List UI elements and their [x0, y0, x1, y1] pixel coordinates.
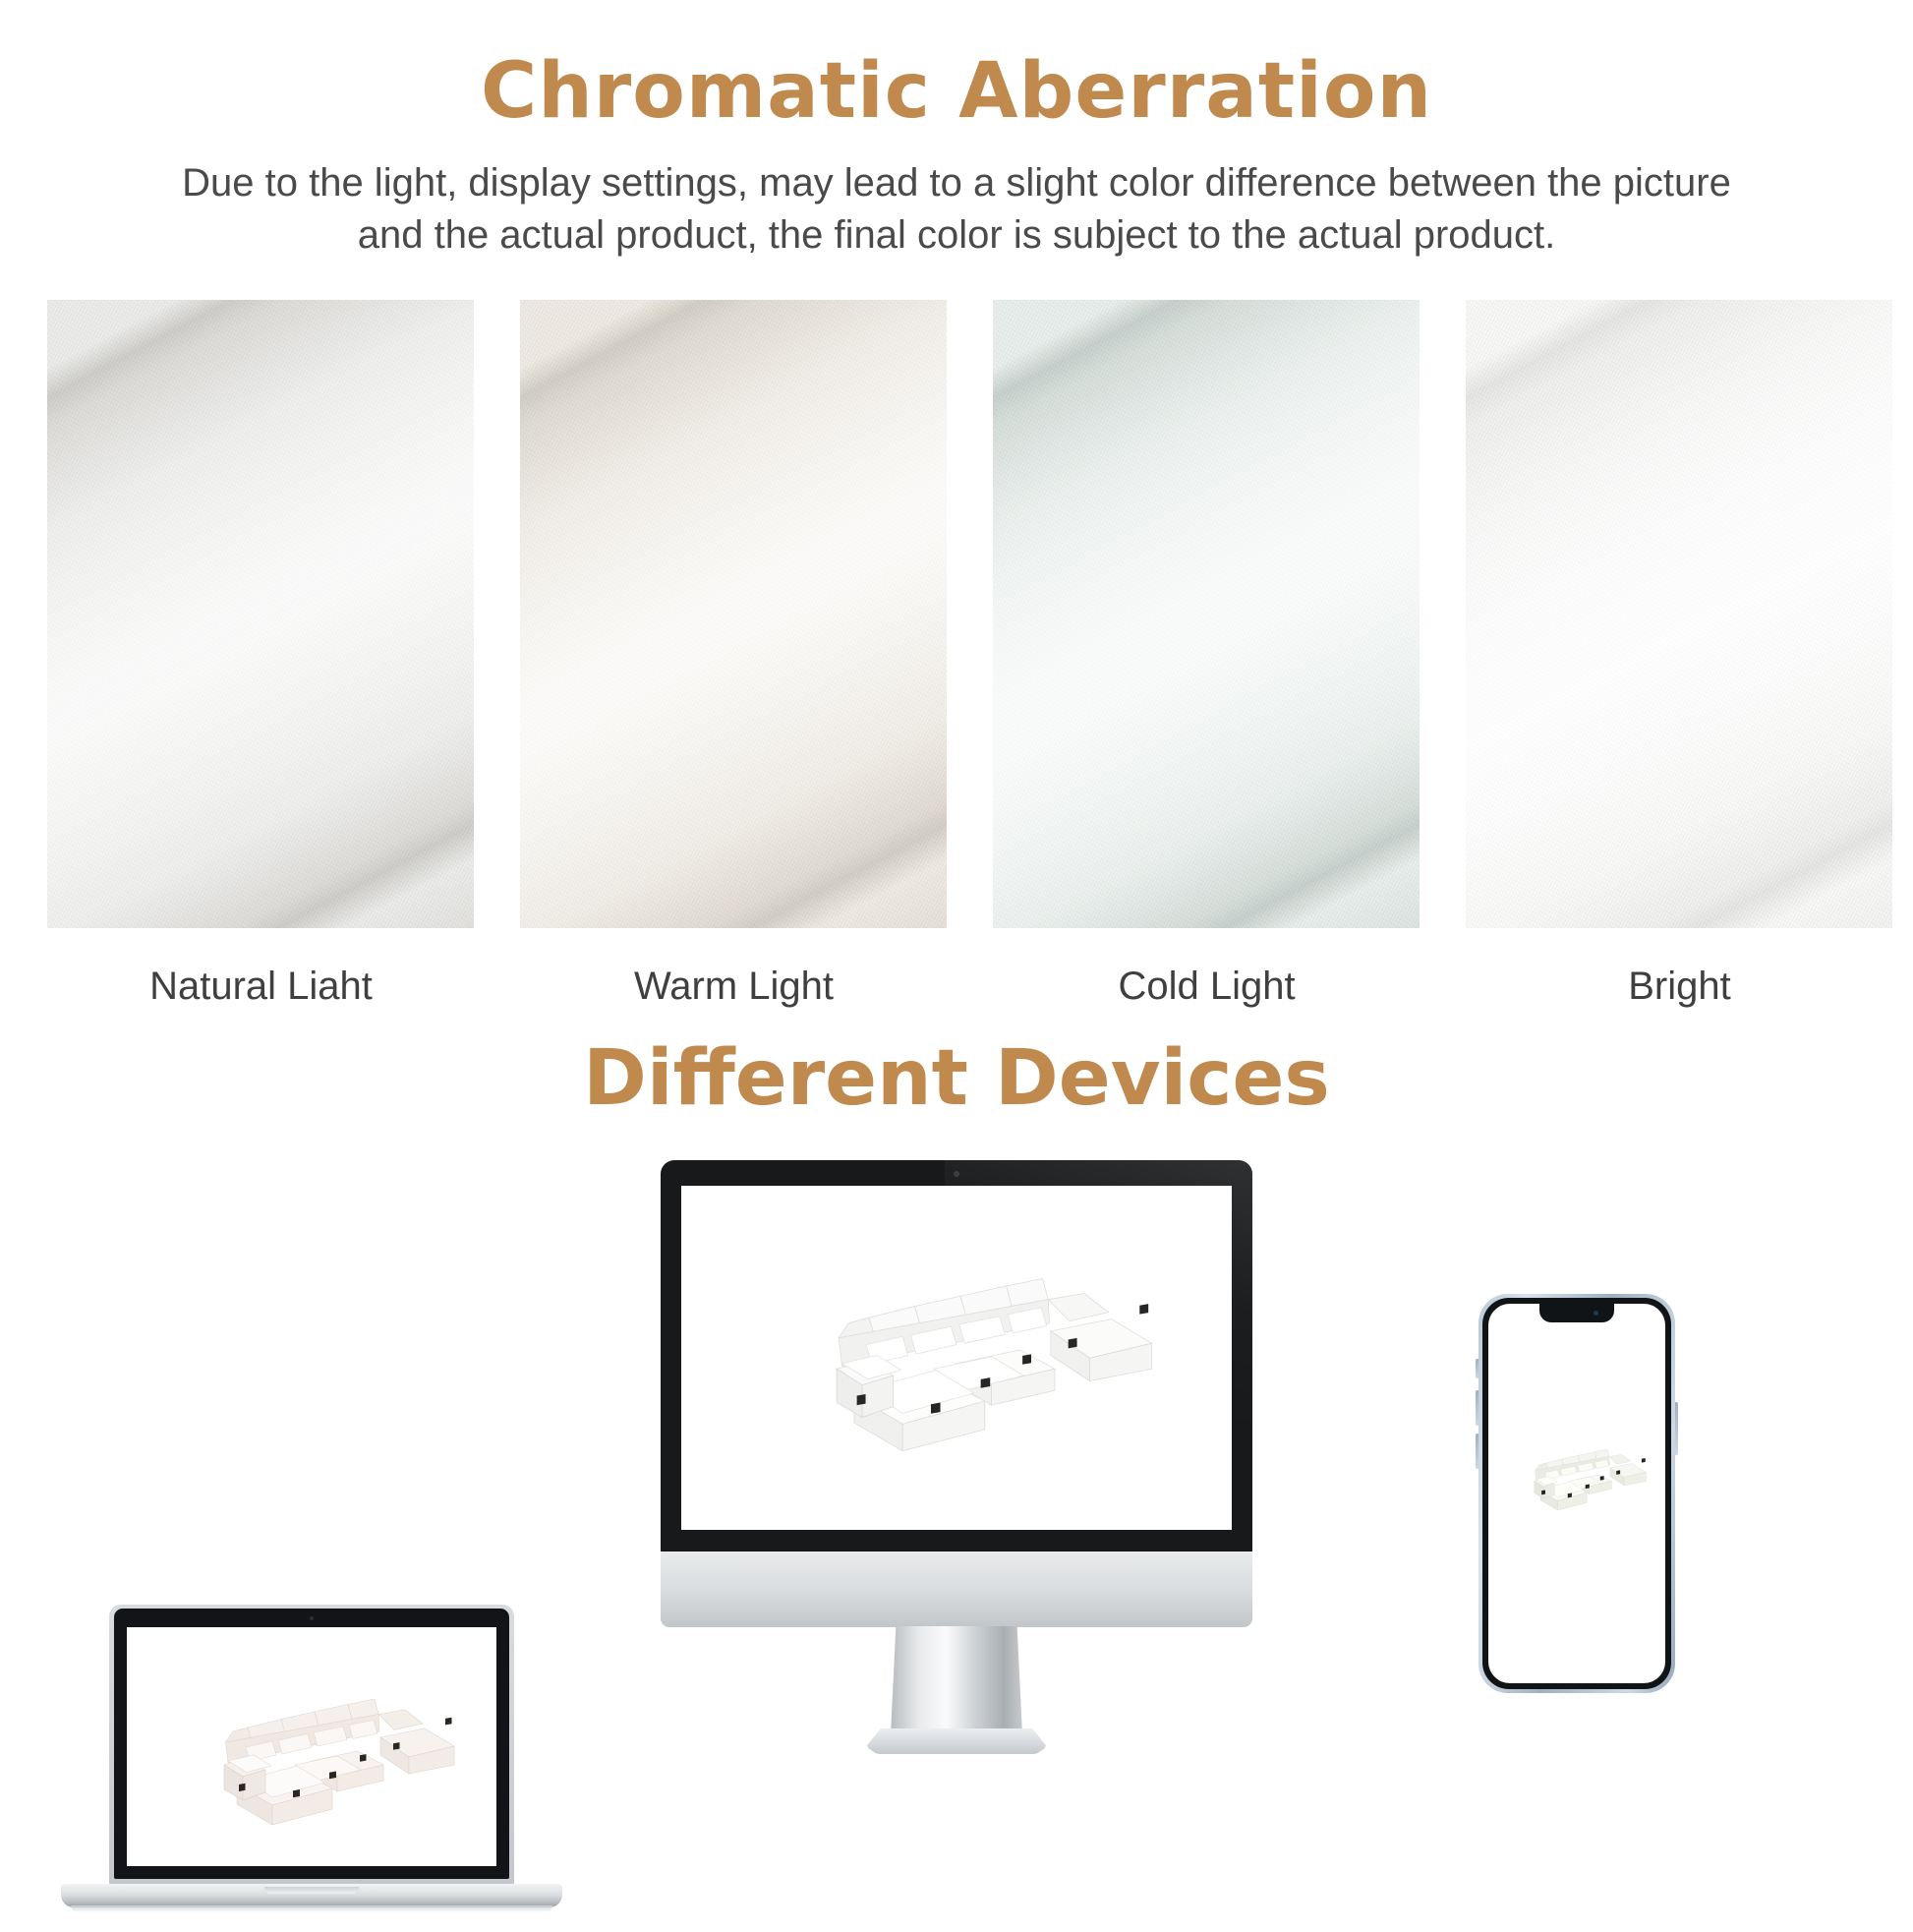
chromatic-disclaimer-text: Due to the light, display settings, may … — [150, 136, 1763, 262]
monitor-camera-icon — [954, 1171, 959, 1177]
laptop-base — [61, 1884, 562, 1907]
monitor-screen — [681, 1186, 1232, 1530]
laptop-camera-icon — [310, 1616, 314, 1620]
monitor-stand-base — [866, 1728, 1047, 1754]
phone-camera-icon — [1594, 1311, 1598, 1316]
phone-power-button[interactable] — [1675, 1402, 1678, 1455]
phone-notch — [1539, 1304, 1614, 1322]
laptop-screen — [127, 1627, 496, 1866]
phone-volume-up-button[interactable] — [1476, 1390, 1478, 1426]
fabric-swatch-icon — [1466, 300, 1892, 928]
phone-bezel — [1482, 1298, 1671, 1689]
laptop-lid — [109, 1605, 514, 1886]
different-devices-section: Different Devices — [0, 1023, 1913, 1123]
fabric-swatch-icon — [47, 300, 474, 928]
swatch-cell-bright: Bright — [1466, 300, 1892, 928]
sofa-product-image — [1498, 1434, 1655, 1525]
swatch-label: Warm Light — [520, 965, 948, 1009]
page-title: Chromatic Aberration — [0, 0, 1913, 136]
laptop-bezel — [114, 1609, 509, 1879]
swatch-cell-cold-light: Cold Light — [993, 300, 1420, 928]
swatch-cell-natural-light: Natural Liaht — [47, 300, 474, 928]
swatch-label: Cold Light — [993, 965, 1420, 1009]
swatch-label: Bright — [1466, 965, 1893, 1009]
monitor-stand-neck — [891, 1626, 1022, 1734]
smartphone-icon — [1478, 1294, 1675, 1693]
laptop-icon — [61, 1605, 562, 1932]
fabric-swatch-icon — [993, 300, 1420, 928]
sofa-product-image — [734, 1237, 1179, 1491]
phone-volume-down-button[interactable] — [1476, 1434, 1478, 1469]
devices-title: Different Devices — [0, 1023, 1913, 1123]
swatch-label: Natural Liaht — [47, 965, 475, 1009]
phone-mute-switch[interactable] — [1476, 1359, 1478, 1378]
laptop-shadow — [71, 1905, 552, 1912]
phone-screen — [1488, 1304, 1665, 1683]
chromatic-aberration-section: Chromatic Aberration Due to the light, d… — [0, 0, 1913, 262]
swatch-cell-warm-light: Warm Light — [520, 300, 947, 928]
fabric-swatch-row: Natural Liaht Warm Light Cold Light Brig… — [47, 300, 1892, 928]
sofa-product-image — [149, 1669, 474, 1853]
fabric-swatch-icon — [520, 300, 947, 928]
devices-stage — [0, 1160, 1913, 1913]
monitor-lid — [661, 1160, 1252, 1553]
laptop-trackpad-notch — [264, 1887, 359, 1894]
phone-frame — [1478, 1294, 1675, 1693]
desktop-monitor-icon — [661, 1160, 1252, 1770]
monitor-chin — [661, 1551, 1252, 1627]
